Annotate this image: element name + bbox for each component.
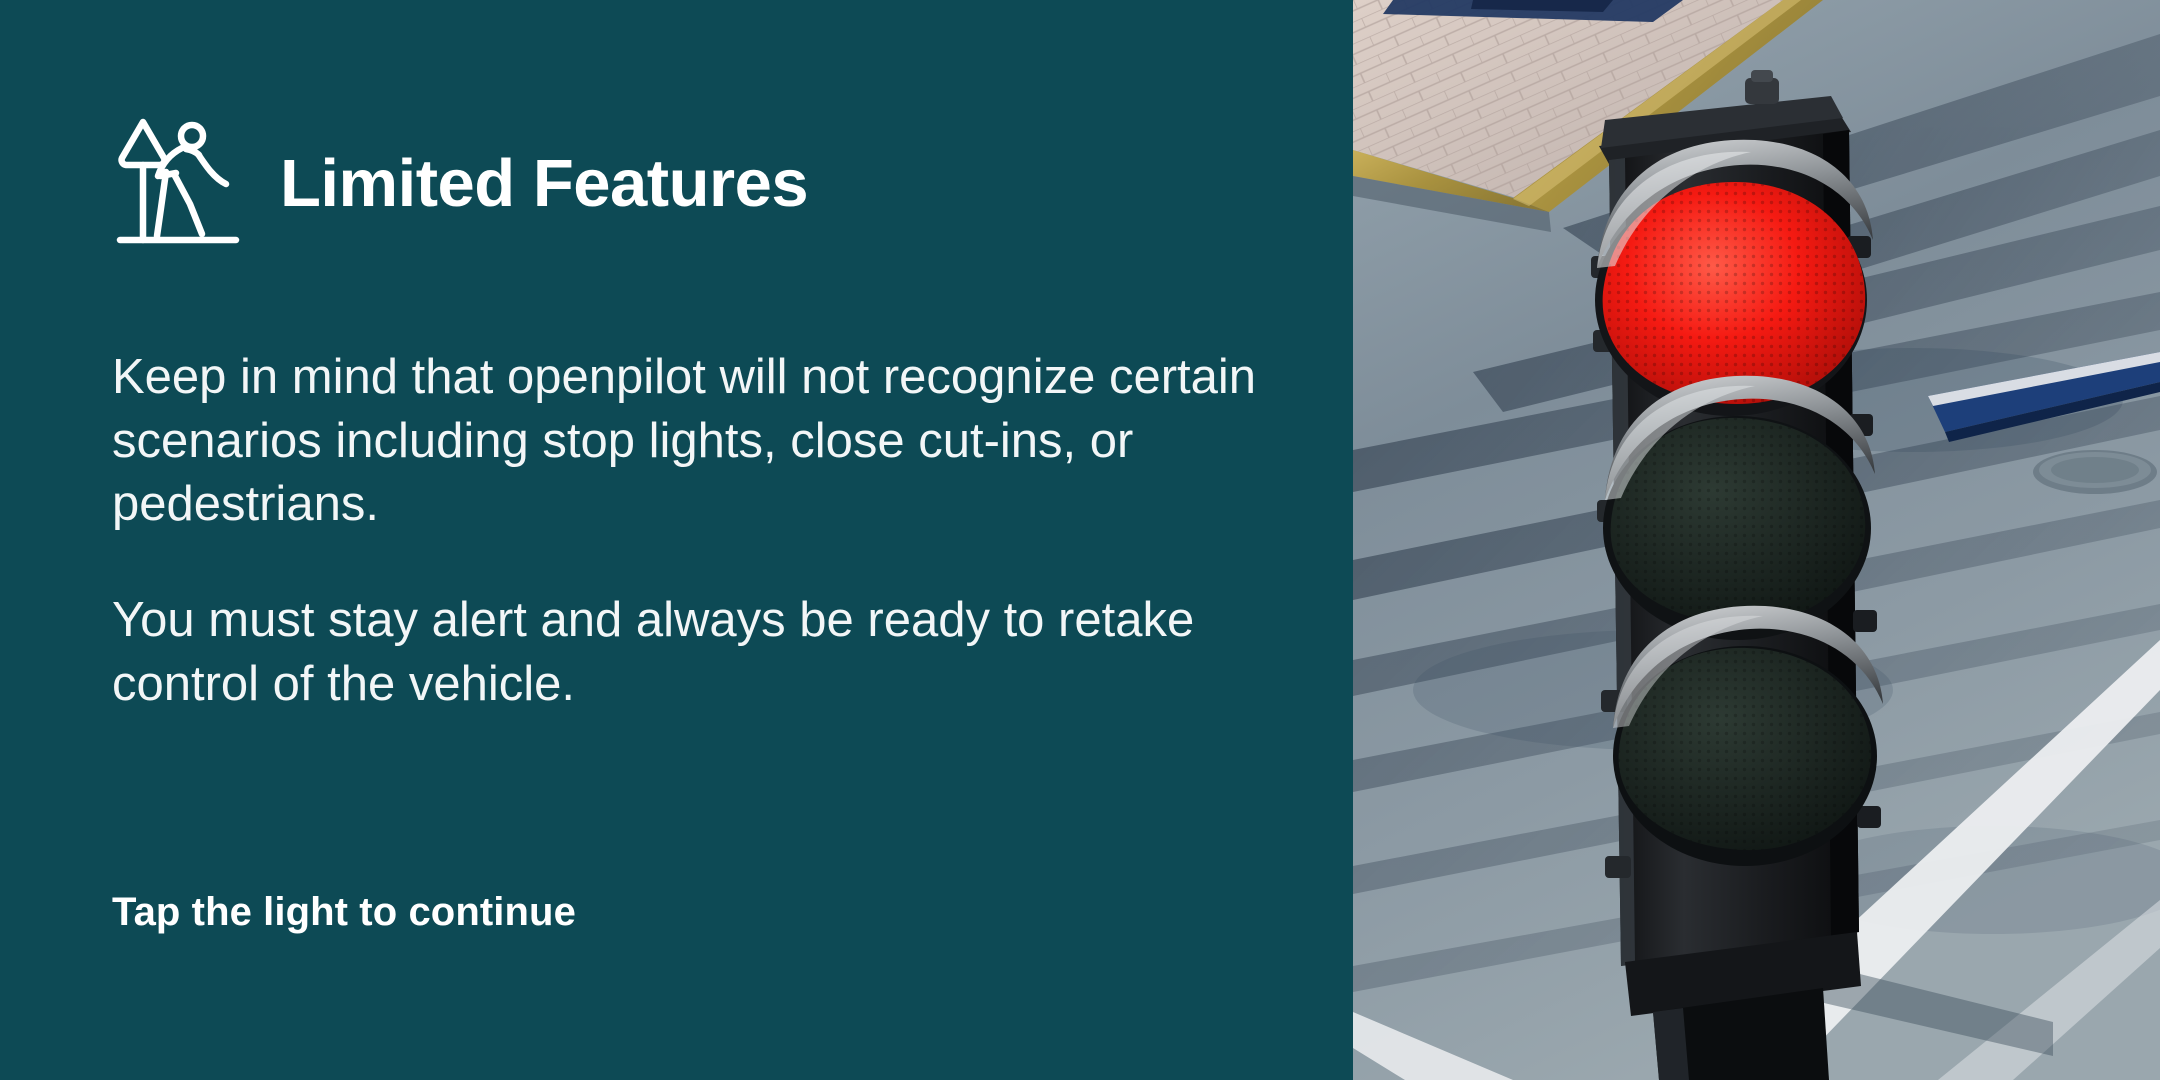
- continue-hint: Tap the light to continue: [112, 890, 576, 935]
- traffic-light-photo[interactable]: [1353, 0, 2160, 1080]
- info-panel: Limited Features Keep in mind that openp…: [0, 0, 1353, 1080]
- onboarding-screen: Limited Features Keep in mind that openp…: [0, 0, 2160, 1080]
- tap-light-target[interactable]: [1588, 105, 1878, 985]
- header: Limited Features: [112, 108, 1353, 258]
- page-title: Limited Features: [280, 150, 808, 217]
- body-copy: Keep in mind that openpilot will not rec…: [112, 346, 1292, 716]
- paragraph-limitations: Keep in mind that openpilot will not rec…: [112, 346, 1272, 537]
- paragraph-stay-alert: You must stay alert and always be ready …: [112, 589, 1272, 716]
- pedestrian-crossing-sign-icon: [112, 112, 244, 254]
